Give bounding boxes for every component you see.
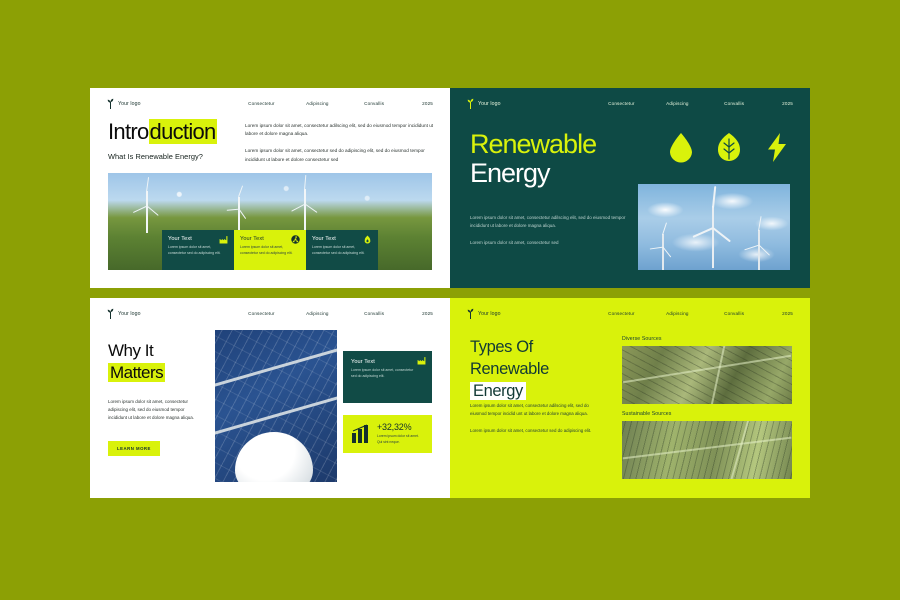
slide-nav[interactable]: Consectetur Adipiscing Convallis 2025	[248, 311, 433, 316]
wind-turbines-sky-photo	[638, 184, 790, 270]
card-body: Lorem ipsum dolor sit amet, consectetur …	[240, 245, 300, 257]
feature-card[interactable]: Your Text Lorem ipsum dolor sit amet, co…	[162, 230, 234, 270]
slide-why-it-matters[interactable]: Your logo Consectetur Adipiscing Convall…	[90, 298, 450, 498]
lightning-bolt-icon	[764, 132, 790, 163]
learn-more-button[interactable]: LEARN MORE	[108, 441, 160, 456]
nav-item-1[interactable]: Adipiscing	[306, 101, 364, 106]
stat-value: +32,32%	[377, 422, 424, 432]
feature-card[interactable]: Your Text Lorem ipsum dolor sit amet, co…	[234, 230, 306, 270]
title-line-1: Why It	[108, 341, 153, 360]
title-line-2: Renewable	[470, 360, 549, 378]
body-paragraph: Lorem ipsum dolor sit amet, consectetur …	[245, 122, 435, 138]
body-paragraph: Lorem ipsum dolor sit amet, consectetur …	[245, 147, 435, 163]
logo-text: Your logo	[118, 311, 141, 317]
title-highlight: duction	[149, 119, 217, 144]
nav-item-3: 2025	[782, 101, 793, 106]
sprout-icon	[467, 308, 474, 319]
nav-item-3: 2025	[422, 101, 433, 106]
slide-topbar: Your logo Consectetur Adipiscing Convall…	[450, 98, 810, 109]
card-body: Lorem ipsum dolor sit amet, consectetur …	[168, 245, 228, 257]
body-paragraph: Lorem ipsum dolor sit amet, consectetur …	[470, 214, 630, 230]
nav-item-1[interactable]: Adipiscing	[666, 311, 724, 316]
leaf-icon	[716, 132, 742, 163]
card-body: Lorem ipsum dolor sit amet, consectetur …	[312, 245, 372, 257]
solar-panel-helmet-photo	[215, 330, 337, 482]
body-paragraph: Lorem ipsum dolor sit amet, consectetur …	[470, 427, 598, 435]
slide-deck-preview: Your logo Consectetur Adipiscing Convall…	[0, 0, 900, 600]
logo-text: Your logo	[478, 311, 501, 317]
feature-card[interactable]: Your Text Lorem ipsum dolor sit amet, co…	[343, 351, 432, 403]
slide-introduction[interactable]: Your logo Consectetur Adipiscing Convall…	[90, 88, 450, 288]
stat-card[interactable]: +32,32% Lorem ipsum dolor sit amet. Qui …	[343, 415, 432, 453]
stat-caption: Lorem ipsum dolor sit amet. Qui sint neq…	[377, 434, 424, 446]
card-body: Lorem ipsum dolor sit amet, consectetur …	[351, 368, 417, 380]
slide-nav[interactable]: Consectetur Adipiscing Convallis 2025	[608, 311, 793, 316]
feature-card-list: Your Text Lorem ipsum dolor sit amet, co…	[162, 230, 378, 270]
slide-topbar: Your logo Consectetur Adipiscing Convall…	[450, 308, 810, 319]
types-body-copy: Lorem ipsum dolor sit amet, consectetur …	[470, 402, 598, 435]
nav-item-2[interactable]: Convallis	[364, 101, 422, 106]
energy-icon-row	[668, 132, 790, 163]
aerial-solar-farm-photo	[622, 346, 792, 404]
body-paragraph: Lorem ipsum dolor sit amet, consectetur …	[108, 398, 196, 422]
intro-body-copy: Lorem ipsum dolor sit amet, consectetur …	[245, 122, 435, 164]
bar-chart-icon	[351, 424, 371, 444]
logo[interactable]: Your logo	[107, 98, 141, 109]
flame-icon	[363, 235, 372, 244]
nav-item-0[interactable]: Consectetur	[608, 311, 666, 316]
slide-nav[interactable]: Consectetur Adipiscing Convallis 2025	[608, 101, 793, 106]
title-line-1: Renewable	[470, 130, 596, 159]
sprout-icon	[107, 98, 114, 109]
title-line-2: Energy	[470, 159, 596, 188]
slide-renewable-energy[interactable]: Your logo Consectetur Adipiscing Convall…	[450, 88, 810, 288]
nav-item-3: 2025	[782, 311, 793, 316]
label-diverse-sources: Diverse Sources	[622, 336, 662, 342]
logo-text: Your logo	[118, 101, 141, 107]
sprout-icon	[107, 308, 114, 319]
nav-item-0[interactable]: Consectetur	[248, 101, 306, 106]
aerial-solar-field-photo	[622, 421, 792, 479]
nav-item-1[interactable]: Adipiscing	[306, 311, 364, 316]
nav-item-0[interactable]: Consectetur	[248, 311, 306, 316]
title-line-1: Types Of	[470, 338, 533, 356]
slide-topbar: Your logo Consectetur Adipiscing Convall…	[90, 98, 450, 109]
title-plain: Intro	[108, 119, 149, 144]
title-line-3: Energy	[470, 382, 526, 400]
feature-card[interactable]: Your Text Lorem ipsum dolor sit amet, co…	[306, 230, 378, 270]
nav-item-2[interactable]: Convallis	[364, 311, 422, 316]
factory-icon	[219, 235, 228, 244]
radioactive-icon	[291, 235, 300, 244]
page-title: Renewable Energy	[470, 130, 596, 188]
renewable-body-copy: Lorem ipsum dolor sit amet, consectetur …	[470, 214, 630, 247]
body-paragraph: Lorem ipsum dolor sit amet, consectetur …	[470, 239, 630, 247]
page-title: Introduction	[108, 121, 217, 143]
label-sustainable-sources: Sustainable Sources	[622, 411, 671, 417]
nav-item-2[interactable]: Convallis	[724, 101, 782, 106]
why-body-copy: Lorem ipsum dolor sit amet, consectetur …	[108, 398, 196, 422]
logo[interactable]: Your logo	[467, 308, 501, 319]
logo[interactable]: Your logo	[107, 308, 141, 319]
card-title: Your Text	[351, 359, 424, 365]
factory-icon	[417, 356, 426, 365]
page-title: Why It Matters	[108, 340, 165, 384]
nav-item-0[interactable]: Consectetur	[608, 101, 666, 106]
slide-types-of-renewable-energy[interactable]: Your logo Consectetur Adipiscing Convall…	[450, 298, 810, 498]
title-line-2: Matters	[108, 363, 165, 382]
nav-item-1[interactable]: Adipiscing	[666, 101, 724, 106]
page-subtitle: What Is Renewable Energy?	[108, 152, 203, 161]
logo-text: Your logo	[478, 101, 501, 107]
slide-topbar: Your logo Consectetur Adipiscing Convall…	[90, 308, 450, 319]
nav-item-2[interactable]: Convallis	[724, 311, 782, 316]
droplet-icon	[668, 132, 694, 163]
nav-item-3: 2025	[422, 311, 433, 316]
body-paragraph: Lorem ipsum dolor sit amet, consectetur …	[470, 402, 598, 418]
logo[interactable]: Your logo	[467, 98, 501, 109]
slide-nav[interactable]: Consectetur Adipiscing Convallis 2025	[248, 101, 433, 106]
page-title: Types Of Renewable Energy	[470, 336, 549, 402]
sprout-icon	[467, 98, 474, 109]
